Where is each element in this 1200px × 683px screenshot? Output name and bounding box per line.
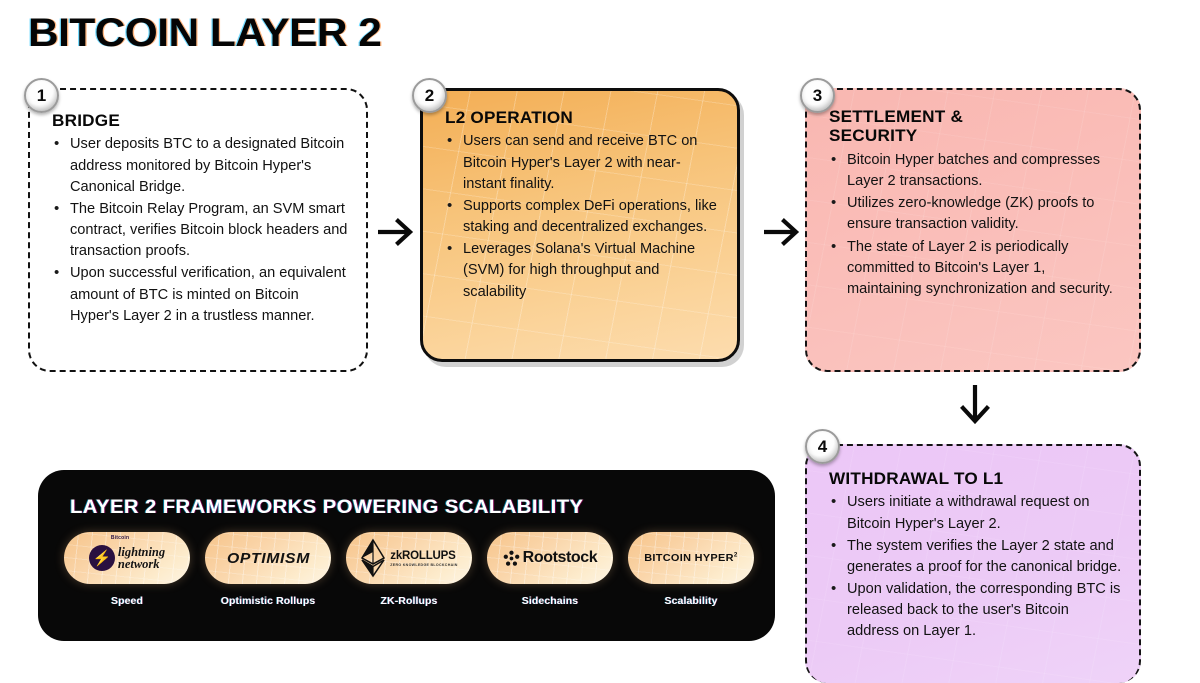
framework-item-sidechains[interactable]: Rootstock Sidechains — [487, 532, 613, 607]
bullet-list-l2-operation: Users can send and receive BTC on Bitcoi… — [445, 131, 721, 302]
framework-label-speed: Speed — [111, 595, 143, 607]
framework-label-scalability: Scalability — [664, 595, 717, 607]
framework-label-optimistic-rollups: Optimistic Rollups — [221, 595, 316, 607]
frameworks-panel: LAYER 2 FRAMEWORKS POWERING SCALABILITY … — [38, 470, 775, 641]
step-badge-1: 1 — [24, 78, 59, 113]
list-item: Users initiate a withdrawal request on B… — [829, 492, 1123, 534]
frameworks-heading: LAYER 2 FRAMEWORKS POWERING SCALABILITY — [70, 496, 583, 519]
step-card-bridge: BRIDGE User deposits BTC to a designated… — [28, 88, 368, 372]
page-title: BITCOIN LAYER 2 — [28, 11, 381, 56]
zk-rollups-wordmark: zkROLLUPS — [390, 550, 457, 562]
framework-item-optimistic-rollups[interactable]: OPTIMISM Optimistic Rollups — [205, 532, 331, 607]
step-card-withdrawal-to-l1: WITHDRAWAL TO L1 Users initiate a withdr… — [805, 444, 1141, 683]
infographic-canvas: BITCOIN LAYER 2 BRIDGE User deposits BTC… — [0, 0, 1200, 683]
lightning-network-logo: Bitcoin ⚡ lightning network — [64, 532, 190, 584]
framework-item-zk-rollups[interactable]: zkROLLUPS ZERO KNOWLEDGE BLOCKCHAIN ZK-R… — [346, 532, 472, 607]
framework-label-sidechains: Sidechains — [522, 595, 578, 607]
list-item: The Bitcoin Relay Program, an SVM smart … — [52, 199, 350, 262]
list-item: The system verifies the Layer 2 state an… — [829, 536, 1123, 578]
bitcoin-hyper-superscript: 2 — [734, 553, 738, 559]
lightning-bolt-icon: ⚡ — [89, 545, 115, 571]
bullet-list-bridge: User deposits BTC to a designated Bitcoi… — [52, 134, 350, 326]
card-title-bridge: BRIDGE — [52, 112, 362, 131]
arrow-right-icon — [764, 216, 804, 248]
list-item: Supports complex DeFi operations, like s… — [445, 196, 721, 238]
framework-label-zk-rollups: ZK-Rollups — [381, 595, 438, 607]
bitcoin-hyper-wordmark: BITCOIN HYPER — [644, 552, 734, 564]
list-item: Utilizes zero-knowledge (ZK) proofs to e… — [829, 193, 1123, 235]
list-item: Upon successful verification, an equival… — [52, 263, 350, 326]
optimism-wordmark: OPTIMISM — [227, 550, 310, 567]
step-card-settlement-security: SETTLEMENT & SECURITY Bitcoin Hyper batc… — [805, 88, 1141, 372]
card-title-l2-operation: L2 OPERATION — [445, 109, 732, 128]
list-item: Bitcoin Hyper batches and compresses Lay… — [829, 150, 1123, 192]
ethereum-diamond-icon — [360, 538, 386, 578]
zk-rollups-logo: zkROLLUPS ZERO KNOWLEDGE BLOCKCHAIN — [346, 532, 472, 584]
frameworks-logo-row: Bitcoin ⚡ lightning network Speed OPTIMI… — [64, 532, 754, 607]
arrow-down-icon — [958, 385, 992, 429]
list-item: User deposits BTC to a designated Bitcoi… — [52, 134, 350, 197]
rootstock-logo: Rootstock — [487, 532, 613, 584]
rootstock-wordmark: Rootstock — [523, 549, 598, 567]
step-badge-2: 2 — [412, 78, 447, 113]
card-title-settlement-security: SETTLEMENT & SECURITY — [829, 108, 1135, 147]
bitcoin-wordmark-text: Bitcoin — [111, 535, 129, 541]
lightning-network-wordmark: lightning network — [118, 546, 165, 571]
arrow-right-icon — [378, 216, 418, 248]
list-item: Leverages Solana's Virtual Machine (SVM)… — [445, 239, 721, 302]
bullet-list-withdrawal-to-l1: Users initiate a withdrawal request on B… — [829, 492, 1123, 642]
zk-rollups-tagline: ZERO KNOWLEDGE BLOCKCHAIN — [390, 563, 457, 567]
list-item: Users can send and receive BTC on Bitcoi… — [445, 131, 721, 194]
framework-item-speed[interactable]: Bitcoin ⚡ lightning network Speed — [64, 532, 190, 607]
list-item: The state of Layer 2 is periodically com… — [829, 237, 1123, 300]
step-badge-4: 4 — [805, 429, 840, 464]
optimism-logo: OPTIMISM — [205, 532, 331, 584]
step-badge-3: 3 — [800, 78, 835, 113]
rootstock-mark-icon — [503, 550, 520, 567]
framework-item-scalability[interactable]: BITCOIN HYPER2 Scalability — [628, 532, 754, 607]
list-item: Upon validation, the corresponding BTC i… — [829, 579, 1123, 642]
bullet-list-settlement-security: Bitcoin Hyper batches and compresses Lay… — [829, 150, 1123, 300]
step-card-l2-operation: L2 OPERATION Users can send and receive … — [420, 88, 740, 362]
bitcoin-hyper-logo: BITCOIN HYPER2 — [628, 532, 754, 584]
card-title-withdrawal-to-l1: WITHDRAWAL TO L1 — [829, 470, 1135, 489]
